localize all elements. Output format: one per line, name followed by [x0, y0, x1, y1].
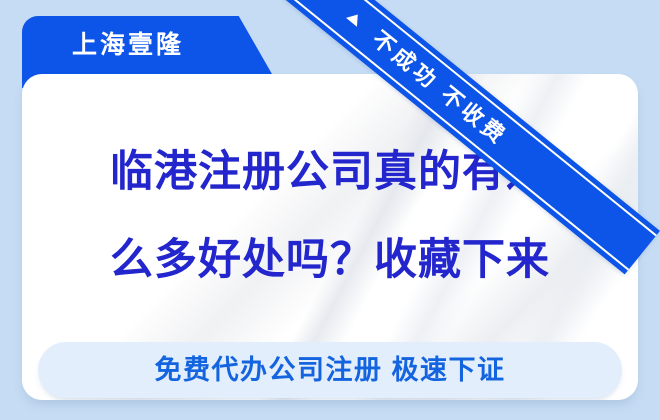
headline-line-2: 么多好处吗？收藏下来 [22, 216, 638, 304]
promo-poster: 上海壹隆 临港注册公司真的有这 么多好处吗？收藏下来 免费代办公司注册 极速下证… [0, 0, 660, 420]
content-card: 临港注册公司真的有这 么多好处吗？收藏下来 免费代办公司注册 极速下证 [22, 74, 638, 400]
cta-banner-label: 免费代办公司注册 极速下证 [38, 342, 622, 398]
brand-tab-label: 上海壹隆 [22, 29, 234, 61]
cta-banner[interactable]: 免费代办公司注册 极速下证 [38, 342, 622, 398]
